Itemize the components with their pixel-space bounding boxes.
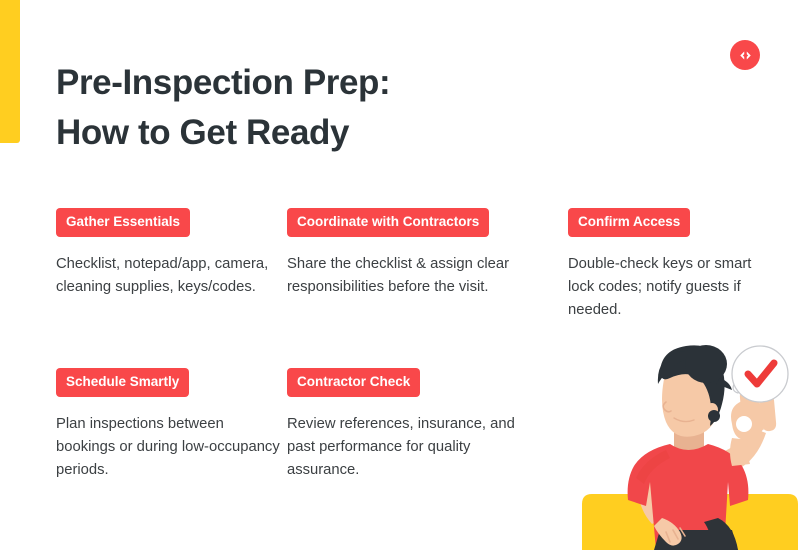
hair-bun xyxy=(685,345,727,383)
card-schedule-smartly: Schedule Smartly Plan inspections betwee… xyxy=(56,368,286,482)
code-brackets-icon[interactable] xyxy=(730,40,760,70)
woman-ok-gesture-illustration xyxy=(570,340,800,550)
card-body: Share the checklist & assign clear respo… xyxy=(287,253,517,299)
card-contractor-check: Contractor Check Review references, insu… xyxy=(287,368,517,482)
card-badge[interactable]: Confirm Access xyxy=(568,208,690,237)
page-title: Pre-Inspection Prep: How to Get Ready xyxy=(56,58,576,158)
card-confirm-access: Confirm Access Double-check keys or smar… xyxy=(568,208,773,322)
page-title-line-1: Pre-Inspection Prep: xyxy=(56,58,576,108)
card-badge[interactable]: Schedule Smartly xyxy=(56,368,189,397)
page-title-line-2: How to Get Ready xyxy=(56,108,576,158)
card-badge[interactable]: Contractor Check xyxy=(287,368,420,397)
speech-bubble xyxy=(732,346,788,402)
card-body: Double-check keys or smart lock codes; n… xyxy=(568,253,773,322)
earring xyxy=(708,410,720,422)
card-body: Review references, insurance, and past p… xyxy=(287,413,517,482)
card-gather-essentials: Gather Essentials Checklist, notepad/app… xyxy=(56,208,286,299)
speech-bubble-circle xyxy=(732,346,788,402)
card-body: Plan inspections between bookings or dur… xyxy=(56,413,286,482)
accent-bar-left xyxy=(0,0,20,143)
card-body: Checklist, notepad/app, camera, cleaning… xyxy=(56,253,286,299)
card-coordinate-with-contractors: Coordinate with Contractors Share the ch… xyxy=(287,208,517,299)
card-badge[interactable]: Gather Essentials xyxy=(56,208,190,237)
card-badge[interactable]: Coordinate with Contractors xyxy=(287,208,489,237)
infographic-canvas: Pre-Inspection Prep: How to Get Ready Ga… xyxy=(0,0,800,550)
